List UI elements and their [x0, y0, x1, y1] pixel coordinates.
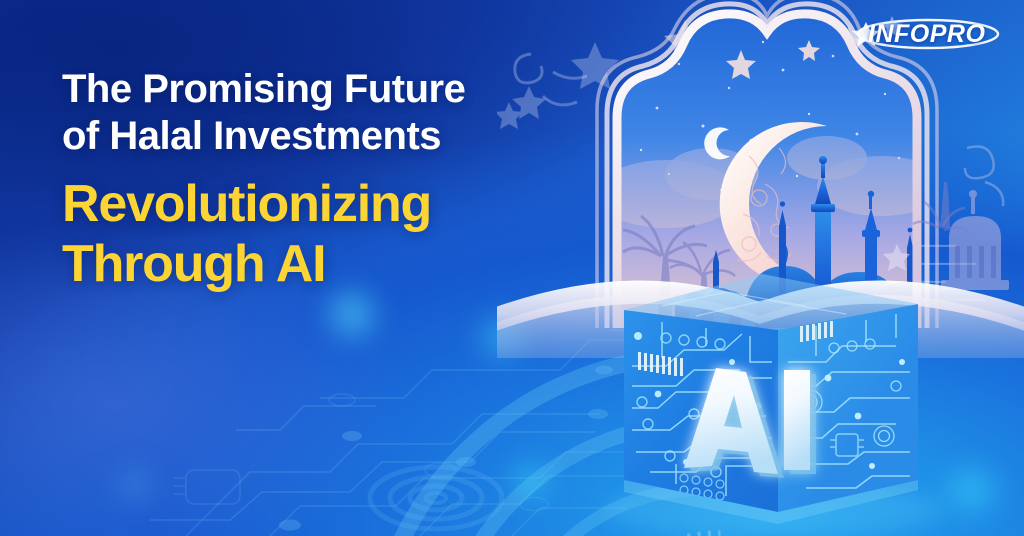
hero-banner: The Promising Future of Halal Investment…	[0, 0, 1024, 536]
headline-line-1: The Promising Future	[62, 66, 622, 113]
headline-line-2: of Halal Investments	[62, 113, 622, 160]
headline-block: The Promising Future of Halal Investment…	[62, 66, 622, 293]
logo-wordmark: INFOPRO	[868, 20, 985, 49]
headline-emphasis-line-1: Revolutionizing	[62, 175, 622, 233]
headline-emphasis-line-2: Through AI	[62, 235, 622, 293]
ai-cube-graphic	[566, 266, 986, 536]
infopro-logo[interactable]: INFOPRO	[852, 14, 1004, 56]
